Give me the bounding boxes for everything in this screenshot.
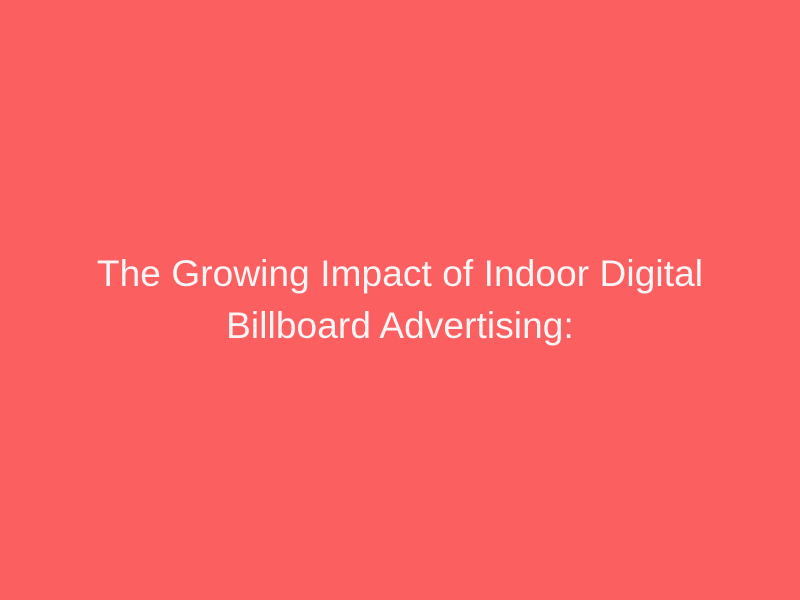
title-block: The Growing Impact of Indoor Digital Bil… bbox=[50, 248, 750, 352]
page-title: The Growing Impact of Indoor Digital Bil… bbox=[60, 248, 740, 352]
preview-card: The Growing Impact of Indoor Digital Bil… bbox=[0, 0, 800, 600]
